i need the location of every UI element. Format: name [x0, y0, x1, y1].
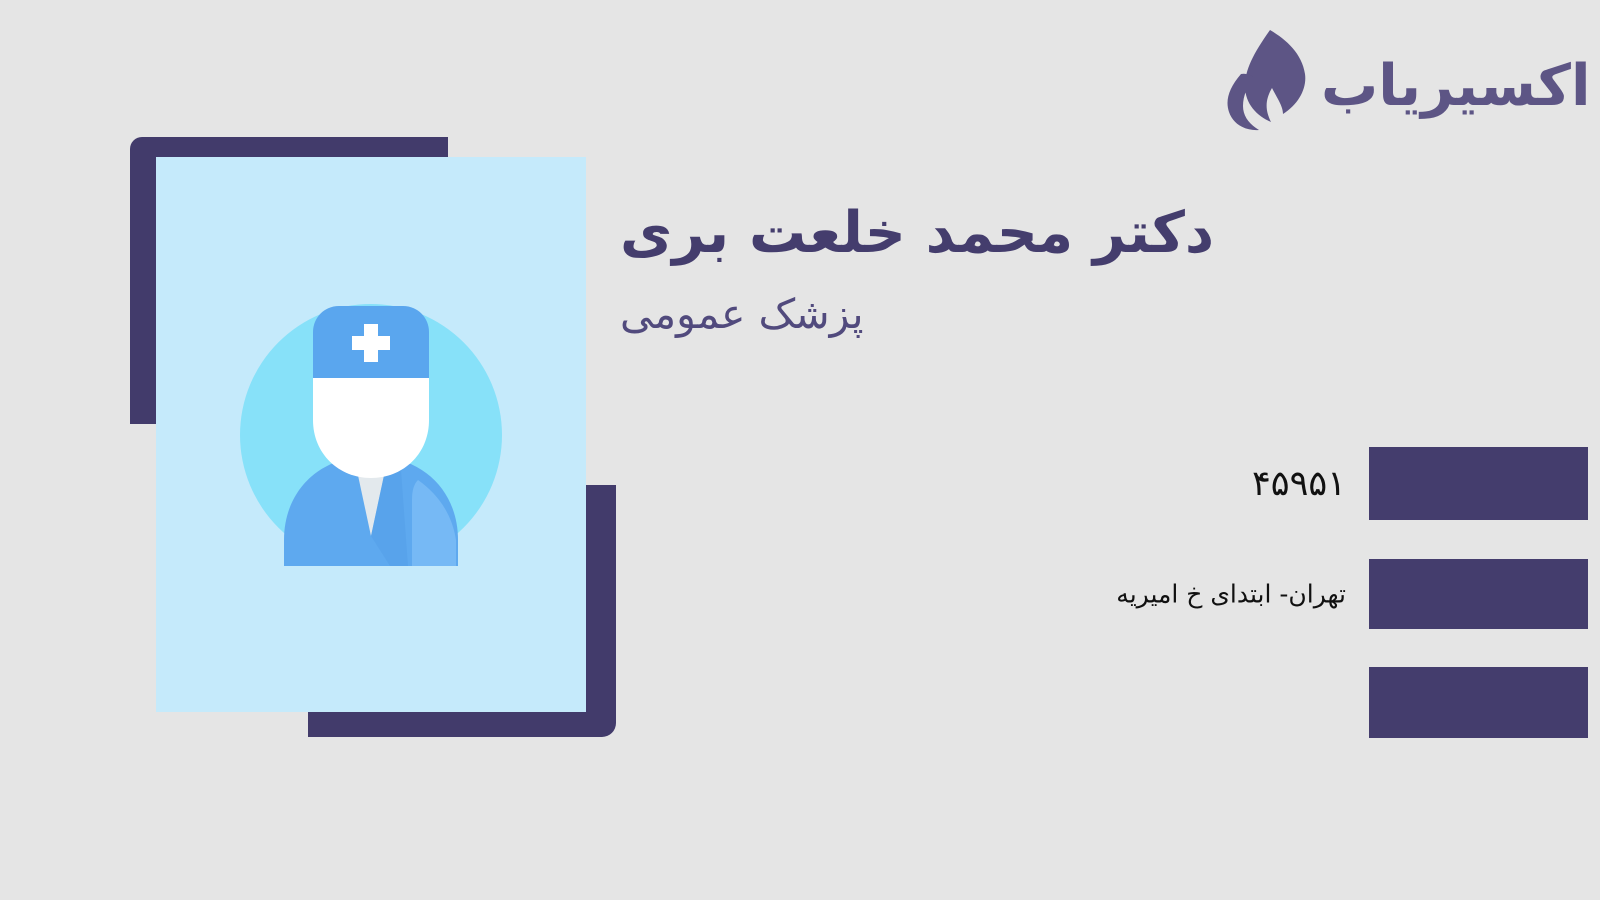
detail-row-address: تهران- ابتدای خ امیریه — [0, 559, 1600, 629]
bar-accent-2 — [1369, 559, 1588, 629]
avatar — [240, 304, 502, 566]
doctor-illustration — [130, 137, 616, 737]
doctor-code: ۴۵۹۵۱ — [1252, 464, 1346, 504]
detail-row-extra — [0, 667, 1600, 738]
clinic-address: تهران- ابتدای خ امیریه — [1116, 580, 1346, 609]
brand-logo[interactable]: اکسیریاب — [1215, 22, 1560, 137]
flame-droplet-icon — [1215, 26, 1311, 134]
detail-row-code: ۴۵۹۵۱ — [0, 447, 1600, 520]
profile-info: دکتر محمد خلعت بری پزشک عمومی — [620, 200, 1510, 341]
doctor-profile-card: اکسیریاب — [0, 0, 1600, 900]
bar-accent-3 — [1369, 667, 1588, 738]
bar-accent-1 — [1369, 447, 1588, 520]
page-title: دکتر محمد خلعت بری — [620, 200, 1510, 267]
brand-name: اکسیریاب — [1321, 58, 1591, 115]
doctor-specialty: پزشک عمومی — [620, 289, 1510, 340]
